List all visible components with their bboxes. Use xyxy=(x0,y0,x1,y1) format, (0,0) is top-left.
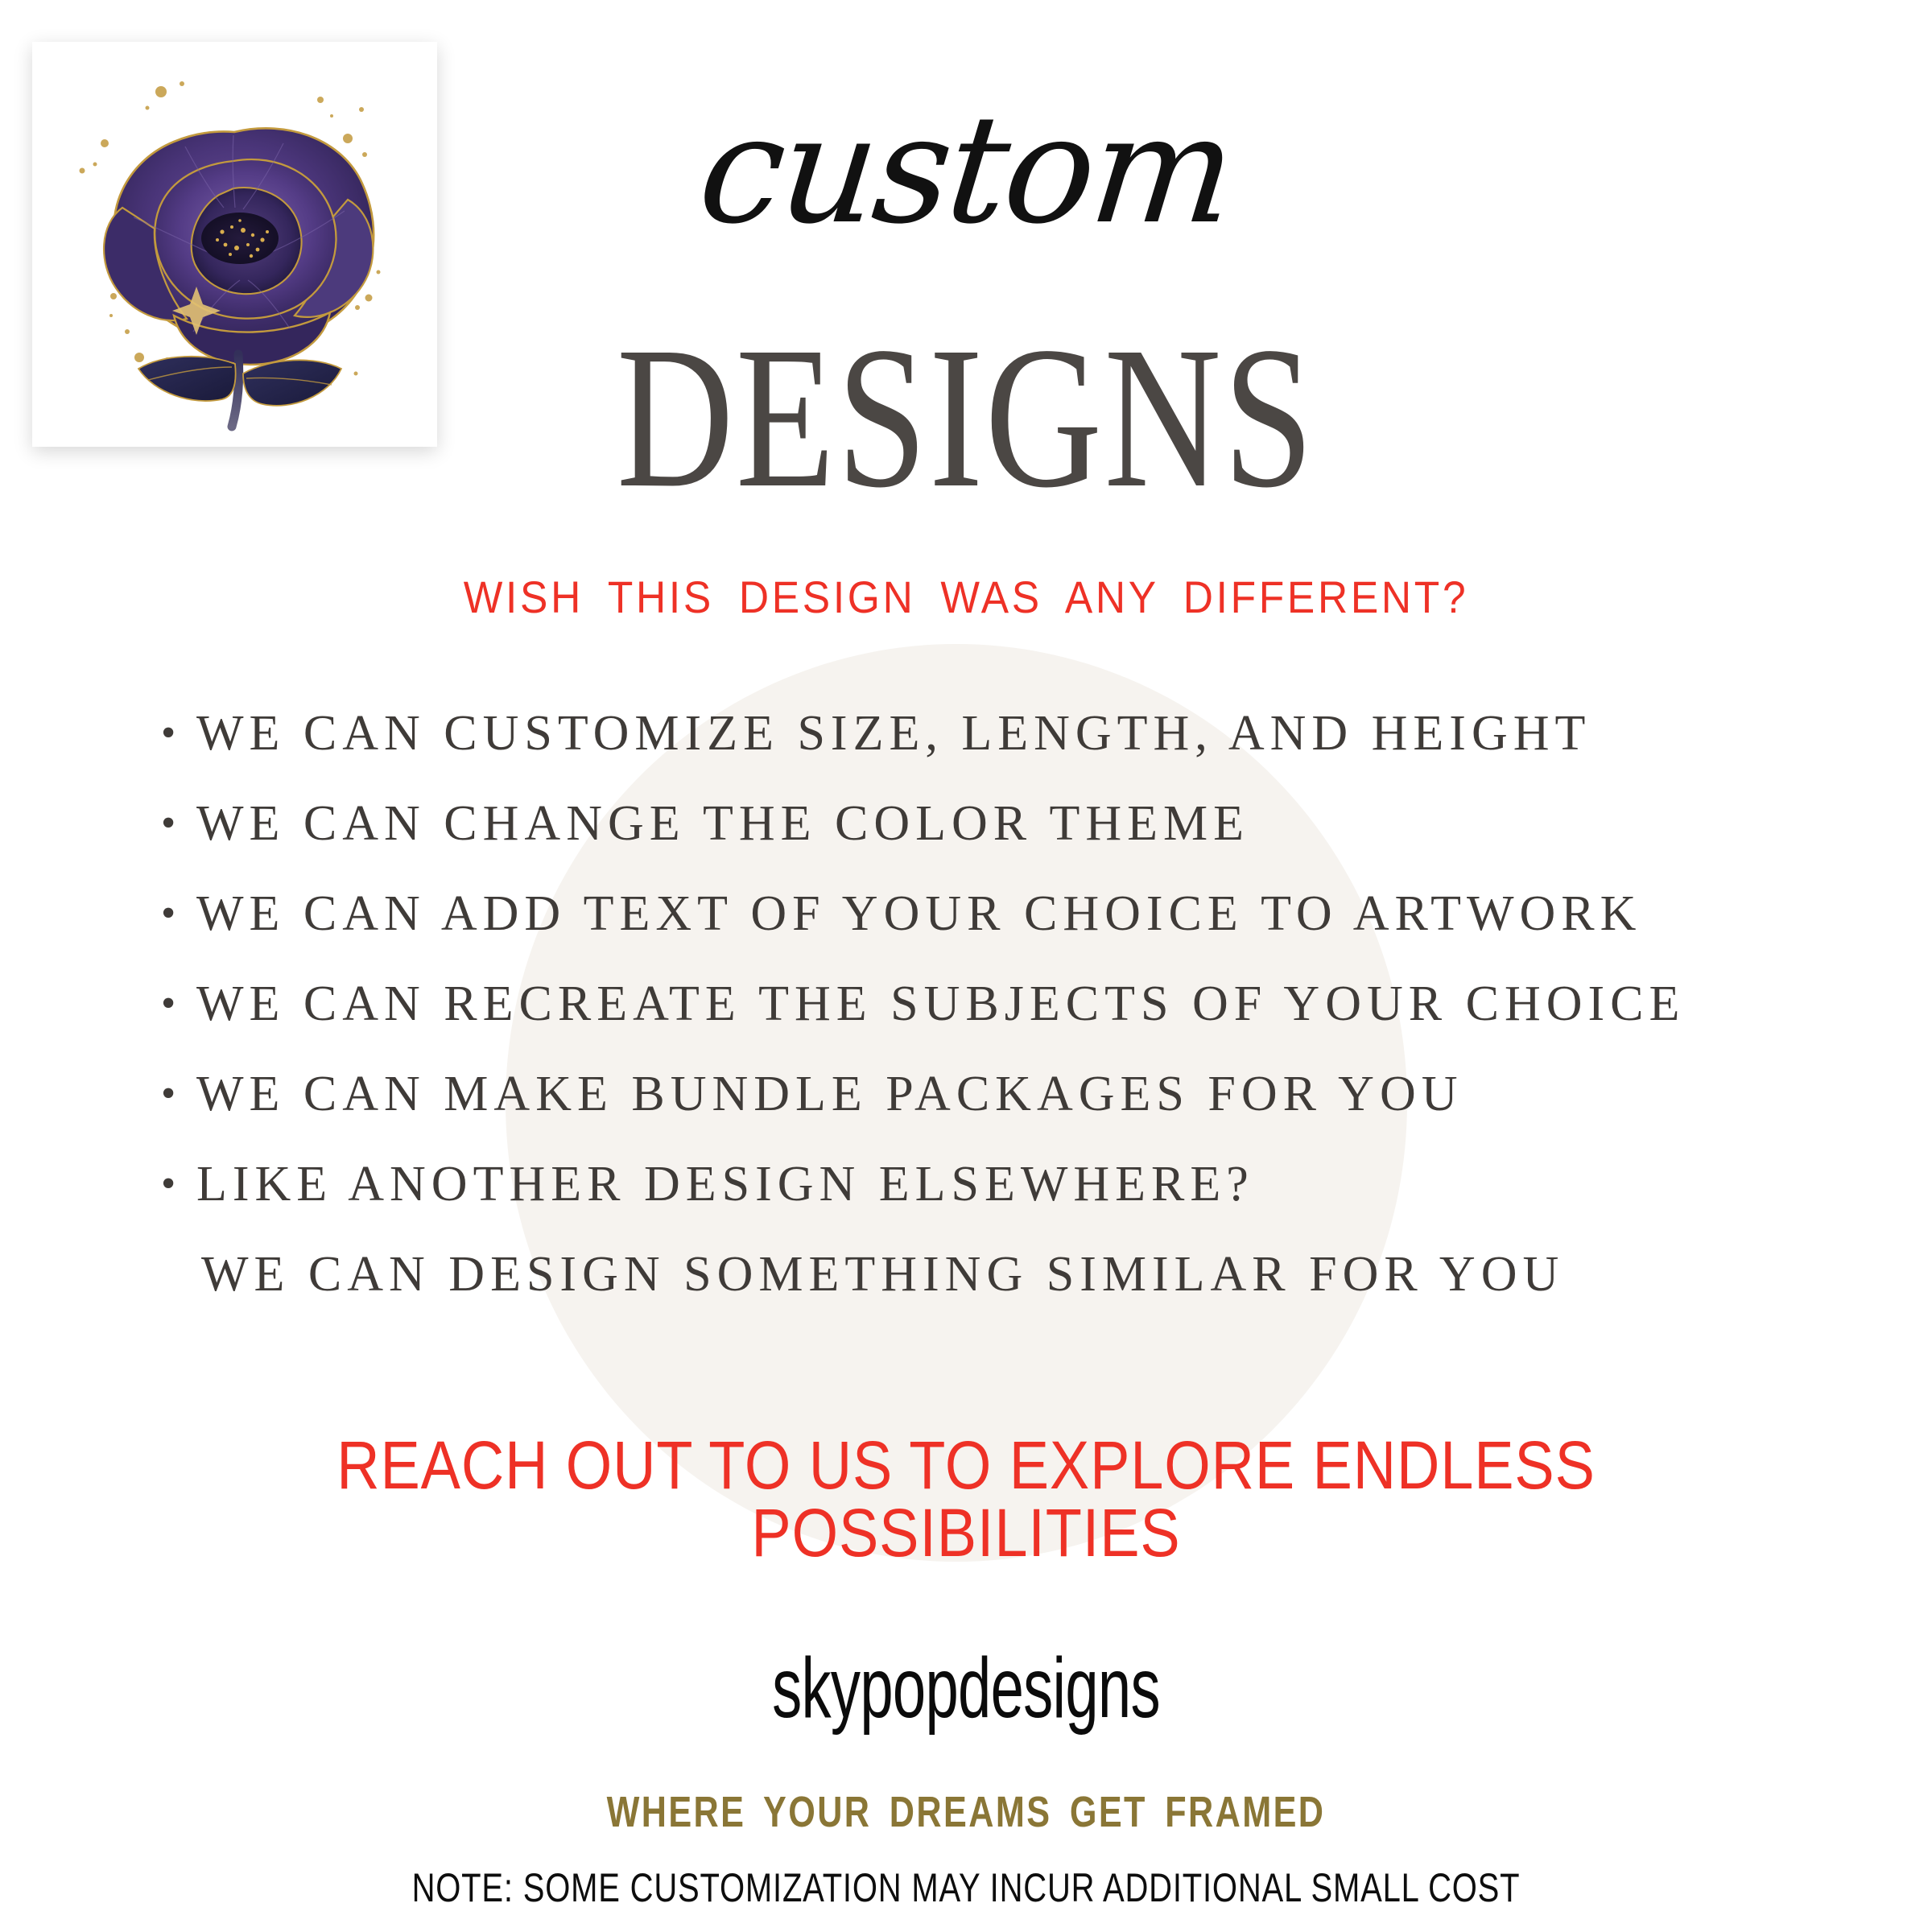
rose-artwork-thumbnail[interactable] xyxy=(32,42,437,447)
list-item: • LIKE ANOTHER DESIGN ELSEWHERE? xyxy=(161,1159,1835,1249)
brand-tagline: WHERE YOUR DREAMS GET FRAMED xyxy=(193,1790,1739,1834)
benefit-text: WE CAN DESIGN SOMETHING SIMILAR FOR YOU xyxy=(196,1249,1564,1299)
bullet-icon: • xyxy=(161,712,196,754)
bullet-icon: • xyxy=(161,983,196,1025)
bullet-icon: • xyxy=(161,1073,196,1115)
call-to-action-text[interactable]: REACH OUT TO US TO EXPLORE ENDLESS POSSI… xyxy=(116,1431,1816,1567)
benefit-text: WE CAN ADD TEXT OF YOUR CHOICE TO ARTWOR… xyxy=(196,889,1641,939)
benefit-text: WE CAN CHANGE THE COLOR THEME xyxy=(196,799,1249,848)
benefit-text: WE CAN RECREATE THE SUBJECTS OF YOUR CHO… xyxy=(196,979,1685,1029)
brand-logo-text[interactable]: skypopdesigns xyxy=(290,1645,1642,1731)
benefit-text: WE CAN MAKE BUNDLE PACKAGES FOR YOU xyxy=(196,1069,1463,1119)
benefit-text: LIKE ANOTHER DESIGN ELSEWHERE? xyxy=(196,1159,1254,1209)
benefits-list: • WE CAN CUSTOMIZE SIZE, LENGTH, AND HEI… xyxy=(161,708,1835,1340)
subtitle-question: WISH THIS DESIGN WAS ANY DIFFERENT? xyxy=(77,575,1855,620)
list-item: • WE CAN CUSTOMIZE SIZE, LENGTH, AND HEI… xyxy=(161,708,1835,799)
list-item: • WE CAN CHANGE THE COLOR THEME xyxy=(161,799,1835,889)
bullet-icon: • xyxy=(161,1163,196,1205)
benefit-text: WE CAN CUSTOMIZE SIZE, LENGTH, AND HEIGH… xyxy=(196,708,1591,758)
footnote-disclaimer: NOTE: SOME CUSTOMIZATION MAY INCUR ADDIT… xyxy=(193,1868,1739,1908)
list-item-continuation: • WE CAN DESIGN SOMETHING SIMILAR FOR YO… xyxy=(161,1249,1835,1340)
list-item: • WE CAN MAKE BUNDLE PACKAGES FOR YOU xyxy=(161,1069,1835,1159)
list-item: • WE CAN RECREATE THE SUBJECTS OF YOUR C… xyxy=(161,979,1835,1069)
bullet-icon: • xyxy=(161,803,196,844)
purple-rose-illustration xyxy=(32,42,437,447)
list-item: • WE CAN ADD TEXT OF YOUR CHOICE TO ARTW… xyxy=(161,889,1835,979)
bullet-icon: • xyxy=(161,893,196,935)
